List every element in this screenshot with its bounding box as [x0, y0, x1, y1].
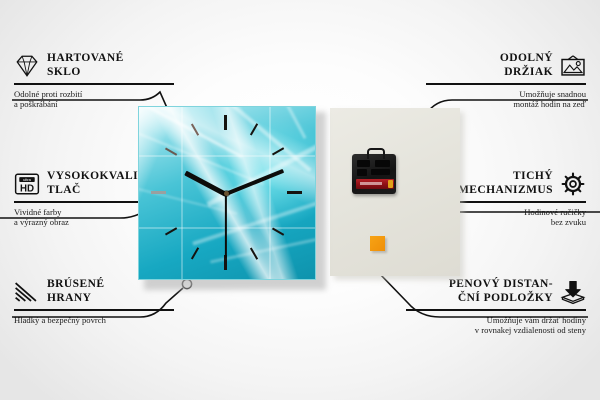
hour-tick [250, 123, 259, 135]
svg-text:HD: HD [20, 183, 34, 194]
feature-header: ODOLNÝ DRŽIAK [426, 52, 586, 79]
title-rule [406, 309, 586, 311]
feature-title: ODOLNÝ DRŽIAK [426, 52, 553, 79]
battery-label [360, 182, 382, 185]
wall-clock-product [138, 106, 320, 284]
feature-durable-hanger: ODOLNÝ DRŽIAK Umožňuje snadnou montáž ho… [426, 52, 586, 110]
hour-tick [224, 115, 227, 130]
hour-hand [184, 170, 227, 196]
feather-streak [138, 106, 243, 158]
mechanism-slot [357, 169, 367, 176]
feature-tempered-glass: HARTOVANÉ SKLO Odolné proti rozbití a po… [14, 52, 174, 110]
product-detail-panel [330, 108, 460, 276]
mechanism-slot [371, 169, 390, 175]
battery-terminal [388, 180, 393, 188]
feature-header: PENOVÝ DISTAN- ČNÍ PODLOŽKY [406, 278, 586, 305]
brushed-edges-icon [14, 279, 40, 305]
glass-seam-vertical [269, 107, 271, 279]
feature-title: BRÚSENÉ HRANY [47, 278, 104, 305]
glass-seam-vertical [181, 107, 183, 279]
title-rule [426, 83, 586, 85]
title-rule [14, 83, 174, 85]
hour-tick [287, 191, 302, 194]
hour-tick [191, 247, 200, 259]
feature-title: HARTOVANÉ SKLO [47, 52, 124, 79]
title-rule [14, 309, 174, 311]
glass-seam-horizontal [139, 155, 315, 157]
feature-description: Umožňuje snadnou montáž hodin na zeď [426, 89, 586, 110]
feature-title: PENOVÝ DISTAN- ČNÍ PODLOŽKY [406, 278, 553, 305]
feature-header: HARTOVANÉ SKLO [14, 52, 174, 79]
clock-mechanism [352, 154, 396, 194]
clock-center-pin [224, 191, 229, 196]
feature-description: Umožňuje vám držať hodiny v rovnakej vzd… [406, 315, 586, 336]
infographic-canvas: HARTOVANÉ SKLO Odolné proti rozbití a po… [0, 0, 600, 400]
mechanism-hook [367, 148, 385, 159]
gear-icon [560, 171, 586, 197]
battery [356, 179, 394, 189]
wall-mount-icon [560, 53, 586, 79]
glass-seam-horizontal [139, 227, 315, 229]
svg-text:ultra: ultra [23, 177, 32, 182]
hour-tick [151, 191, 166, 194]
second-hand [225, 194, 227, 258]
clock-face [138, 106, 316, 280]
mechanism-slot [357, 160, 370, 167]
diamond-icon [14, 53, 40, 79]
hour-tick [272, 227, 284, 236]
ultra-hd-icon: ultra HD [14, 171, 40, 197]
foam-spacer-icon [560, 279, 586, 305]
feature-foam-spacers: PENOVÝ DISTAN- ČNÍ PODLOŽKY Umožňuje vám… [406, 278, 586, 336]
foam-spacer-pad [370, 236, 385, 251]
mechanism-slot [375, 160, 390, 167]
feature-description: Hladký a bezpečný povrch [14, 315, 174, 326]
hour-tick [165, 227, 177, 236]
